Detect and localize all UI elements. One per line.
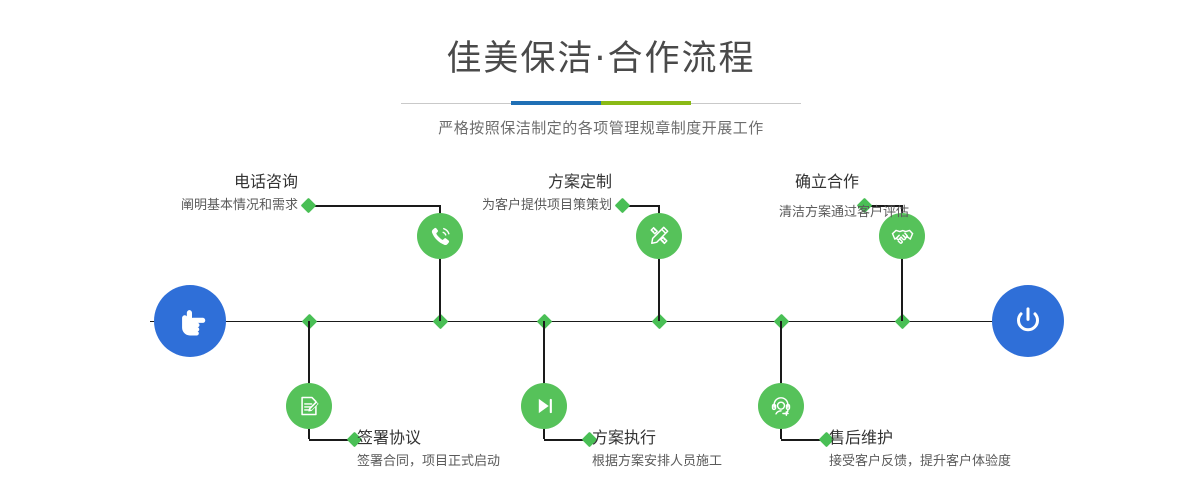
step-label-3: 方案定制 为客户提供项目策策划	[354, 173, 612, 214]
title-divider	[401, 101, 801, 105]
step-subtitle: 根据方案安排人员施工	[592, 454, 852, 470]
phone-call-icon	[427, 223, 454, 250]
step-icon-circle-2[interactable]	[286, 383, 332, 429]
step-subtitle: 清洁方案通过客户评估	[779, 205, 909, 221]
power-icon	[1008, 301, 1048, 341]
divider-blue-segment	[511, 101, 601, 105]
label-diamond	[615, 198, 631, 214]
step-title: 确立合作	[709, 173, 859, 191]
play-execute-icon	[531, 393, 557, 419]
step-title: 签署协议	[357, 429, 617, 447]
divider-green-segment	[601, 101, 691, 105]
step-label-6: 售后维护 接受客户反馈，提升客户体验度	[829, 429, 1129, 470]
pointing-hand-icon	[170, 301, 210, 341]
page-title: 佳美保洁·合作流程	[0, 42, 1202, 77]
customer-service-icon	[768, 393, 794, 419]
header: 佳美保洁·合作流程 严格按照保洁制定的各项管理规章制度开展工作	[0, 0, 1202, 138]
step-subtitle: 接受客户反馈，提升客户体验度	[829, 454, 1129, 470]
end-node[interactable]	[992, 285, 1064, 357]
step-label-5: 确立合作 清洁方案通过客户评估	[709, 173, 859, 191]
step-title: 方案执行	[592, 429, 852, 447]
step-title: 售后维护	[829, 429, 1129, 447]
step-subtitle: 签署合同，项目正式启动	[357, 454, 617, 470]
step-label-1: 电话咨询 阐明基本情况和需求	[40, 173, 298, 214]
step-icon-circle-6[interactable]	[758, 383, 804, 429]
handshake-icon	[889, 223, 916, 250]
step-icon-circle-4[interactable]	[521, 383, 567, 429]
timeline-axis	[150, 321, 1050, 322]
pencil-ruler-icon	[646, 223, 672, 249]
step-icon-circle-3[interactable]	[636, 213, 682, 259]
step-label-2: 签署协议 签署合同，项目正式启动	[357, 429, 617, 470]
page-subtitle: 严格按照保洁制定的各项管理规章制度开展工作	[0, 117, 1202, 138]
start-node[interactable]	[154, 285, 226, 357]
step-subtitle: 阐明基本情况和需求	[40, 198, 298, 214]
step-title: 电话咨询	[40, 173, 298, 191]
step-subtitle: 为客户提供项目策策划	[354, 198, 612, 214]
step-title: 方案定制	[354, 173, 612, 191]
step-label-4: 方案执行 根据方案安排人员施工	[592, 429, 852, 470]
label-diamond	[301, 198, 317, 214]
flow-diagram-canvas: 佳美保洁·合作流程 严格按照保洁制定的各项管理规章制度开展工作	[0, 0, 1202, 502]
document-sign-icon	[296, 393, 322, 419]
step-icon-circle-1[interactable]	[417, 213, 463, 259]
